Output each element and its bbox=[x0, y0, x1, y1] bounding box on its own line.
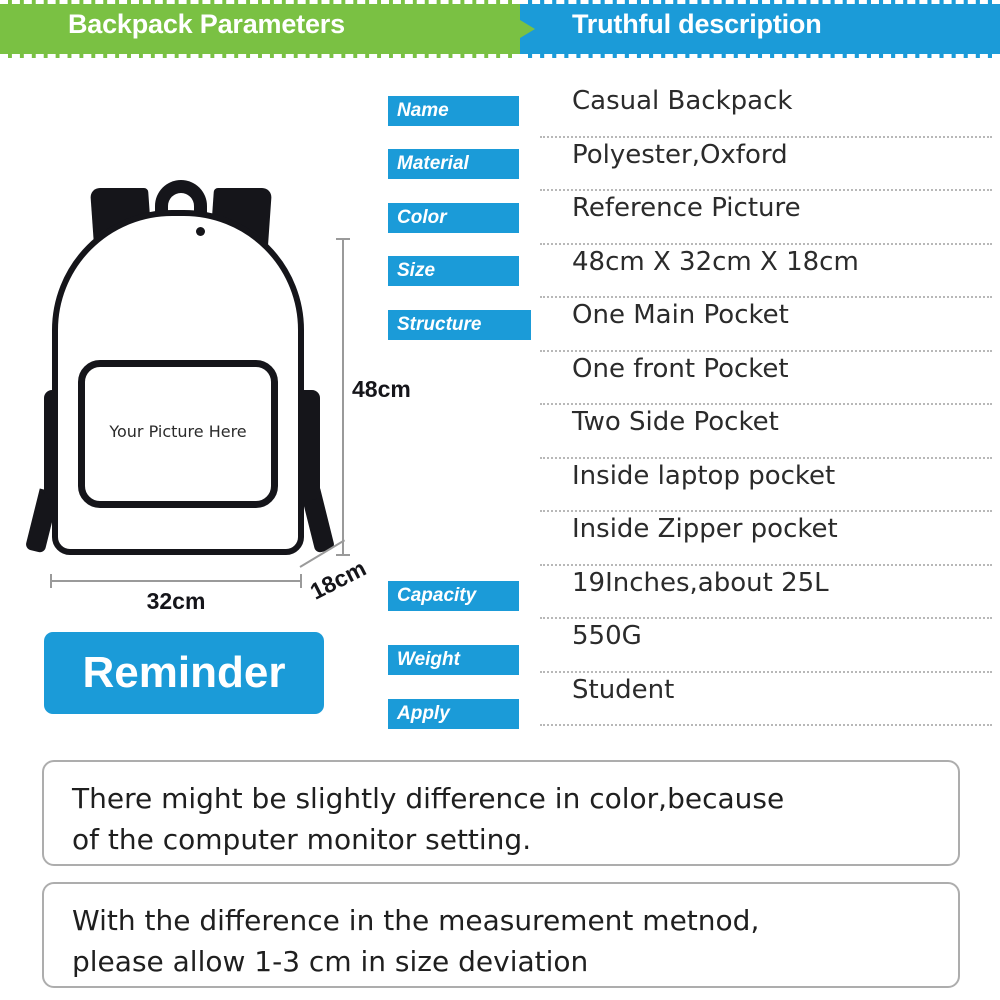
spec-label-weight: Weight bbox=[388, 645, 519, 675]
notice-measurement-line-1: With the difference in the measurement m… bbox=[72, 900, 930, 941]
spec-value-row: Casual Backpack bbox=[540, 84, 992, 138]
header-banner: Backpack Parameters Truthful description bbox=[0, 0, 1000, 58]
spec-value-structure-2: One front Pocket bbox=[572, 354, 789, 384]
spec-value-row: Inside laptop pocket bbox=[540, 459, 992, 513]
spec-value-name: Casual Backpack bbox=[572, 86, 792, 116]
width-dimension-label: 32cm bbox=[50, 588, 302, 615]
spec-label-apply: Apply bbox=[388, 699, 519, 729]
spec-label-material: Material bbox=[388, 149, 519, 179]
spec-label-name: Name bbox=[388, 96, 519, 126]
spec-value-size: 48cm X 32cm X 18cm bbox=[572, 247, 859, 277]
side-strap-right bbox=[302, 390, 320, 500]
spec-value-material: Polyester,Oxford bbox=[572, 140, 788, 170]
spec-value-row: 550G bbox=[540, 619, 992, 673]
height-dimension-line bbox=[342, 238, 344, 556]
header-parameters-title: Backpack Parameters bbox=[68, 9, 345, 40]
spec-value-column: Casual Backpack Polyester,Oxford Referen… bbox=[540, 84, 992, 726]
spec-value-row: Two Side Pocket bbox=[540, 405, 992, 459]
notice-measurement-line-2: please allow 1-3 cm in size deviation bbox=[72, 941, 930, 982]
reminder-badge: Reminder bbox=[44, 632, 324, 714]
spec-value-row: 19Inches,about 25L bbox=[540, 566, 992, 620]
notice-color-line-1: There might be slightly difference in co… bbox=[72, 778, 930, 819]
spec-value-apply: Student bbox=[572, 675, 674, 705]
spec-value-row: One Main Pocket bbox=[540, 298, 992, 352]
notice-color-line-2: of the computer monitor setting. bbox=[72, 819, 930, 860]
front-pocket: Your Picture Here bbox=[78, 360, 278, 508]
spec-value-row: One front Pocket bbox=[540, 352, 992, 406]
spec-value-color: Reference Picture bbox=[572, 193, 801, 223]
spec-value-structure-5: Inside Zipper pocket bbox=[572, 514, 838, 544]
spec-value-row: 48cm X 32cm X 18cm bbox=[540, 245, 992, 299]
spec-value-capacity: 19Inches,about 25L bbox=[572, 568, 829, 598]
zipper-pull-icon bbox=[196, 227, 205, 236]
spec-value-structure-3: Two Side Pocket bbox=[572, 407, 779, 437]
spec-label-capacity: Capacity bbox=[388, 581, 519, 611]
header-description-title: Truthful description bbox=[572, 9, 822, 40]
spec-value-weight: 550G bbox=[572, 621, 642, 651]
spec-value-row: Reference Picture bbox=[540, 191, 992, 245]
spec-label-color: Color bbox=[388, 203, 519, 233]
spec-value-structure-1: One Main Pocket bbox=[572, 300, 789, 330]
height-dimension-label: 48cm bbox=[352, 376, 411, 403]
spec-value-row: Student bbox=[540, 673, 992, 727]
spec-value-structure-4: Inside laptop pocket bbox=[572, 461, 835, 491]
pocket-caption: Your Picture Here bbox=[85, 422, 271, 441]
spec-value-row: Polyester,Oxford bbox=[540, 138, 992, 192]
spec-label-structure: Structure bbox=[388, 310, 531, 340]
width-dimension-line bbox=[50, 580, 302, 582]
notice-color-difference: There might be slightly difference in co… bbox=[42, 760, 960, 866]
notice-measurement-deviation: With the difference in the measurement m… bbox=[42, 882, 960, 988]
header-arrow-divider-icon bbox=[505, 11, 535, 47]
spec-value-row: Inside Zipper pocket bbox=[540, 512, 992, 566]
spec-label-size: Size bbox=[388, 256, 519, 286]
